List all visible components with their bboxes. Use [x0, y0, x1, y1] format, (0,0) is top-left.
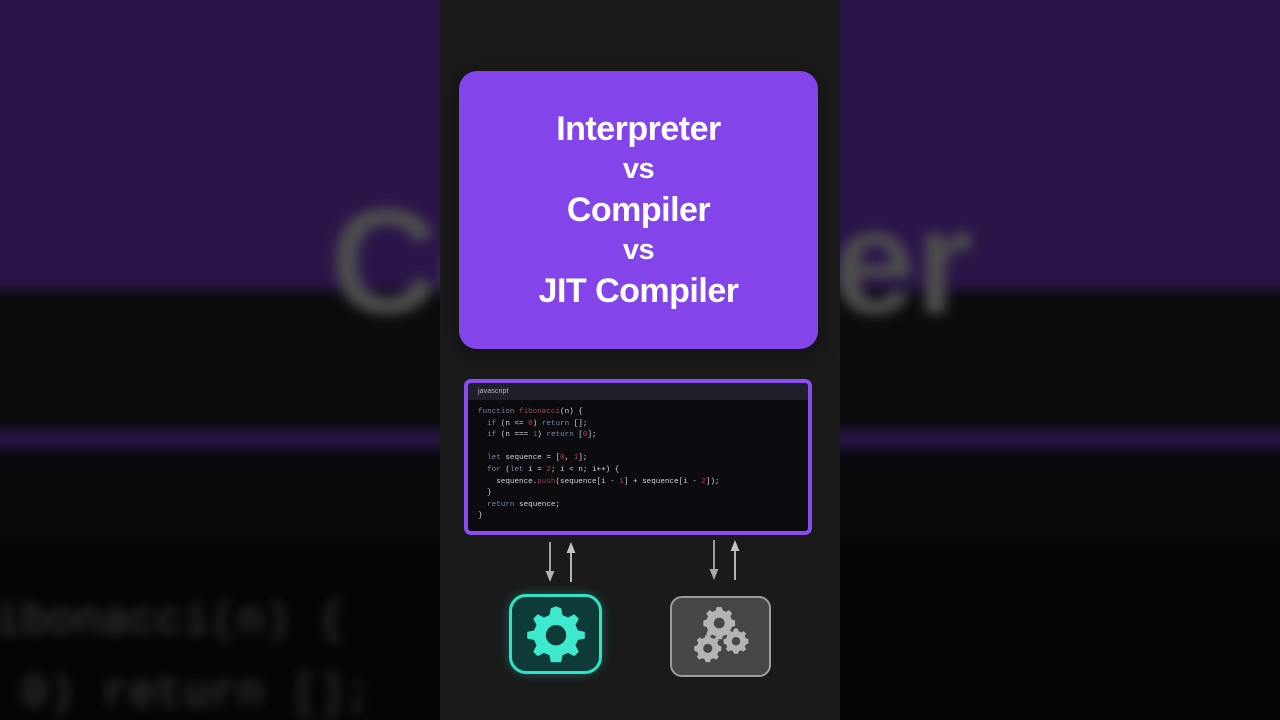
code-token: ];	[587, 431, 596, 439]
interpreter-engine-box[interactable]: Interpreter engine	[509, 594, 602, 674]
code-token: i =	[524, 466, 547, 474]
code-token	[478, 466, 487, 474]
code-line	[478, 442, 798, 454]
code-line: return sequence;	[478, 500, 798, 512]
code-block: javascript function fibonacci(n) { if (n…	[464, 379, 812, 535]
arrow-pair-interpreter	[544, 541, 577, 583]
title-line-compiler: Compiler	[567, 188, 710, 232]
code-token: return	[487, 501, 514, 509]
code-line: if (n === 1) return [0];	[478, 430, 798, 442]
code-line: }	[478, 511, 798, 523]
code-block-body: function fibonacci(n) { if (n <= 0) retu…	[468, 400, 808, 523]
code-token: if	[487, 431, 496, 439]
title-card: Interpreter vs Compiler vs JIT Compiler	[459, 71, 818, 349]
triple-gear-icon	[688, 607, 754, 667]
code-token: (sequence[i -	[555, 478, 619, 486]
down-arrow-icon	[708, 539, 720, 581]
code-token: )	[533, 420, 542, 428]
code-token: push	[537, 478, 555, 486]
code-token: let	[487, 454, 501, 462]
video-panel: Interpreter vs Compiler vs JIT Compiler …	[440, 0, 840, 720]
arrow-pair-jit	[708, 539, 741, 581]
code-token: ] + sequence[i -	[624, 478, 701, 486]
single-gear-icon	[526, 604, 586, 664]
code-line: }	[478, 488, 798, 500]
code-token: for	[487, 466, 501, 474]
code-token: (n ===	[496, 431, 532, 439]
code-line: let sequence = [0, 1];	[478, 453, 798, 465]
title-line-vs-2: vs	[623, 232, 654, 269]
down-arrow-icon	[544, 541, 556, 583]
code-line: sequence.push(sequence[i - 1] + sequence…	[478, 477, 798, 489]
code-token: }	[478, 489, 492, 497]
code-line: if (n <= 0) return [];	[478, 419, 798, 431]
title-line-interpreter: Interpreter	[556, 107, 721, 151]
code-token: return	[546, 431, 573, 439]
code-token	[478, 454, 487, 462]
code-token: ];	[578, 454, 587, 462]
code-token: fibonacci	[519, 408, 560, 416]
code-token: (n) {	[560, 408, 583, 416]
code-token: let	[510, 466, 524, 474]
code-token: ,	[565, 454, 574, 462]
code-token: sequence = [	[501, 454, 560, 462]
code-line: for (let i = 2; i < n; i++) {	[478, 465, 798, 477]
code-language-label: javascript	[478, 388, 509, 395]
code-token: sequence;	[514, 501, 560, 509]
code-line: function fibonacci(n) {	[478, 407, 798, 419]
code-token: (	[501, 466, 510, 474]
code-token: [];	[569, 420, 587, 428]
up-arrow-icon	[729, 539, 741, 581]
code-token: function	[478, 408, 519, 416]
title-line-jit-compiler: JIT Compiler	[539, 269, 739, 313]
code-token: sequence.	[478, 478, 537, 486]
code-token	[478, 443, 483, 451]
code-token	[478, 420, 487, 428]
code-token	[478, 501, 487, 509]
code-token	[478, 431, 487, 439]
jit-engine-box[interactable]: JIT compiler engine	[670, 596, 771, 677]
code-token: [	[574, 431, 583, 439]
code-block-header: javascript	[468, 383, 808, 400]
screenshot-stage: Interpreter vs Compiler vs JIT Compiler …	[0, 0, 1280, 720]
code-token: (n <=	[496, 420, 528, 428]
code-token: ; i < n; i++) {	[551, 466, 619, 474]
title-line-vs-1: vs	[623, 151, 654, 188]
up-arrow-icon	[565, 541, 577, 583]
code-token: }	[478, 512, 483, 520]
code-token: ]);	[706, 478, 720, 486]
code-token: return	[542, 420, 569, 428]
code-token: if	[487, 420, 496, 428]
